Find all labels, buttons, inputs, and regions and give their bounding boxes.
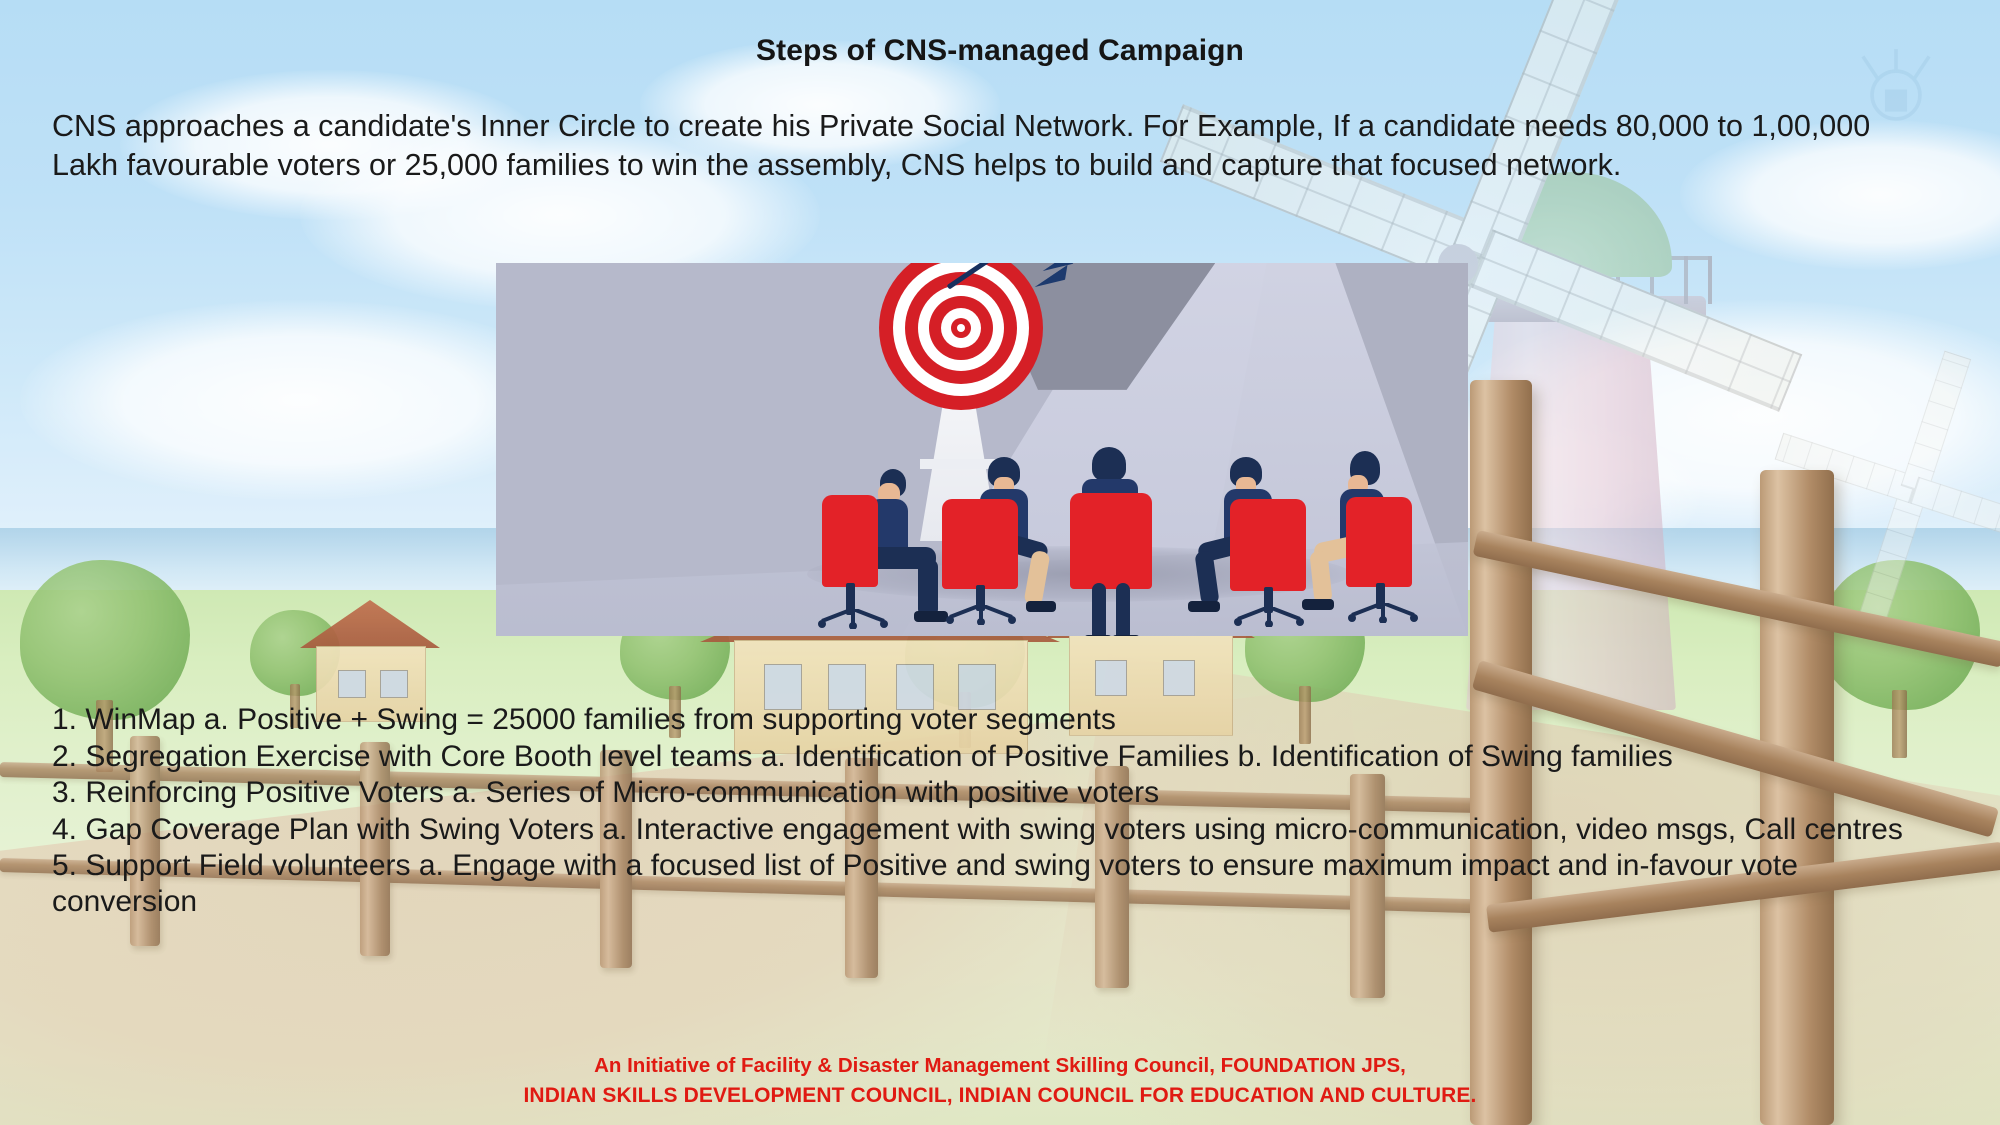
office-chair-icon — [1346, 603, 1420, 623]
illustration-panel — [496, 263, 1468, 636]
steps-list: 1. WinMap a. Positive + Swing = 25000 fa… — [52, 702, 1907, 921]
seated-person-icon — [822, 463, 952, 623]
list-item: 1. WinMap a. Positive + Swing = 25000 fa… — [52, 702, 1907, 738]
slide-canvas: Steps of CNS-managed Campaign CNS approa… — [0, 0, 2000, 1125]
footer-line-1: An Initiative of Facility & Disaster Man… — [0, 1051, 2000, 1081]
target-bullseye-icon — [878, 263, 1044, 411]
list-item: 4. Gap Coverage Plan with Swing Voters a… — [52, 812, 1907, 848]
intro-paragraph: CNS approaches a candidate's Inner Circl… — [52, 107, 1937, 185]
footer: An Initiative of Facility & Disaster Man… — [0, 1051, 2000, 1111]
seated-person-icon — [1054, 447, 1184, 633]
page-title: Steps of CNS-managed Campaign — [0, 34, 2000, 68]
seated-person-icon — [936, 455, 1066, 625]
office-chair-icon — [816, 609, 890, 629]
list-item: 2. Segregation Exercise with Core Booth … — [52, 739, 1907, 775]
office-chair-icon — [1232, 607, 1306, 627]
office-chair-icon — [944, 605, 1018, 625]
footer-line-2: INDIAN SKILLS DEVELOPMENT COUNCIL, INDIA… — [0, 1081, 2000, 1111]
list-item: 5. Support Field volunteers a. Engage wi… — [52, 848, 1907, 920]
list-item: 3. Reinforcing Positive Voters a. Series… — [52, 775, 1907, 811]
seated-person-icon — [1296, 451, 1436, 621]
seated-person-icon — [1184, 455, 1314, 625]
